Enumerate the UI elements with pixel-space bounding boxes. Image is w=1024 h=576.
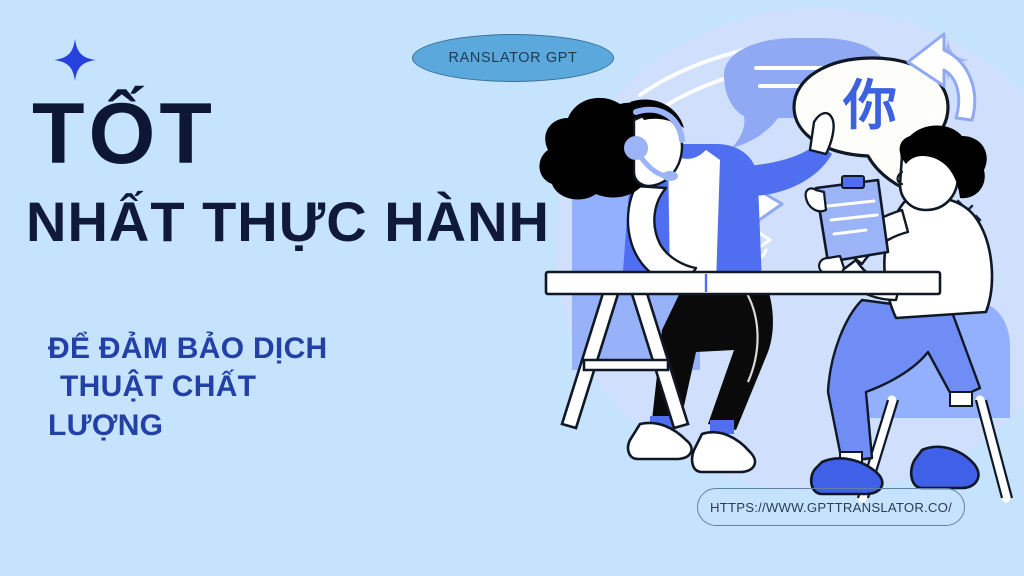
banner-canvas: RANSLATOR GPT TỐT NHẤT THỰC HÀNH ĐỂ ĐẢM … bbox=[0, 0, 1024, 576]
subheadline-block: ĐỂ ĐẢM BẢO DỊCH THUẬT CHẤT LƯỢNG bbox=[0, 330, 470, 445]
subheadline-line-3: LƯỢNG bbox=[48, 407, 470, 445]
headline-line-1: TỐT bbox=[0, 92, 560, 176]
decor-dot-right bbox=[928, 115, 936, 123]
speech-bubble-character: 你 bbox=[842, 74, 897, 137]
url-badge-label: HTTPS://WWW.GPTTRANSLATOR.CO/ bbox=[710, 500, 952, 515]
subheadline-line-2: THUẬT CHẤT bbox=[48, 368, 470, 406]
right-sock-b bbox=[950, 392, 972, 406]
url-badge[interactable]: HTTPS://WWW.GPTTRANSLATOR.CO/ bbox=[697, 488, 965, 526]
subheadline-line-1: ĐỂ ĐẢM BẢO DỊCH bbox=[48, 330, 470, 368]
sparkle-star-left-icon bbox=[52, 37, 98, 83]
right-shoe-b bbox=[911, 447, 978, 488]
clipboard-icon bbox=[816, 176, 888, 262]
headline-line-2: NHẤT THỰC HÀNH bbox=[0, 194, 560, 250]
headline-block: TỐT NHẤT THỰC HÀNH bbox=[0, 92, 560, 250]
